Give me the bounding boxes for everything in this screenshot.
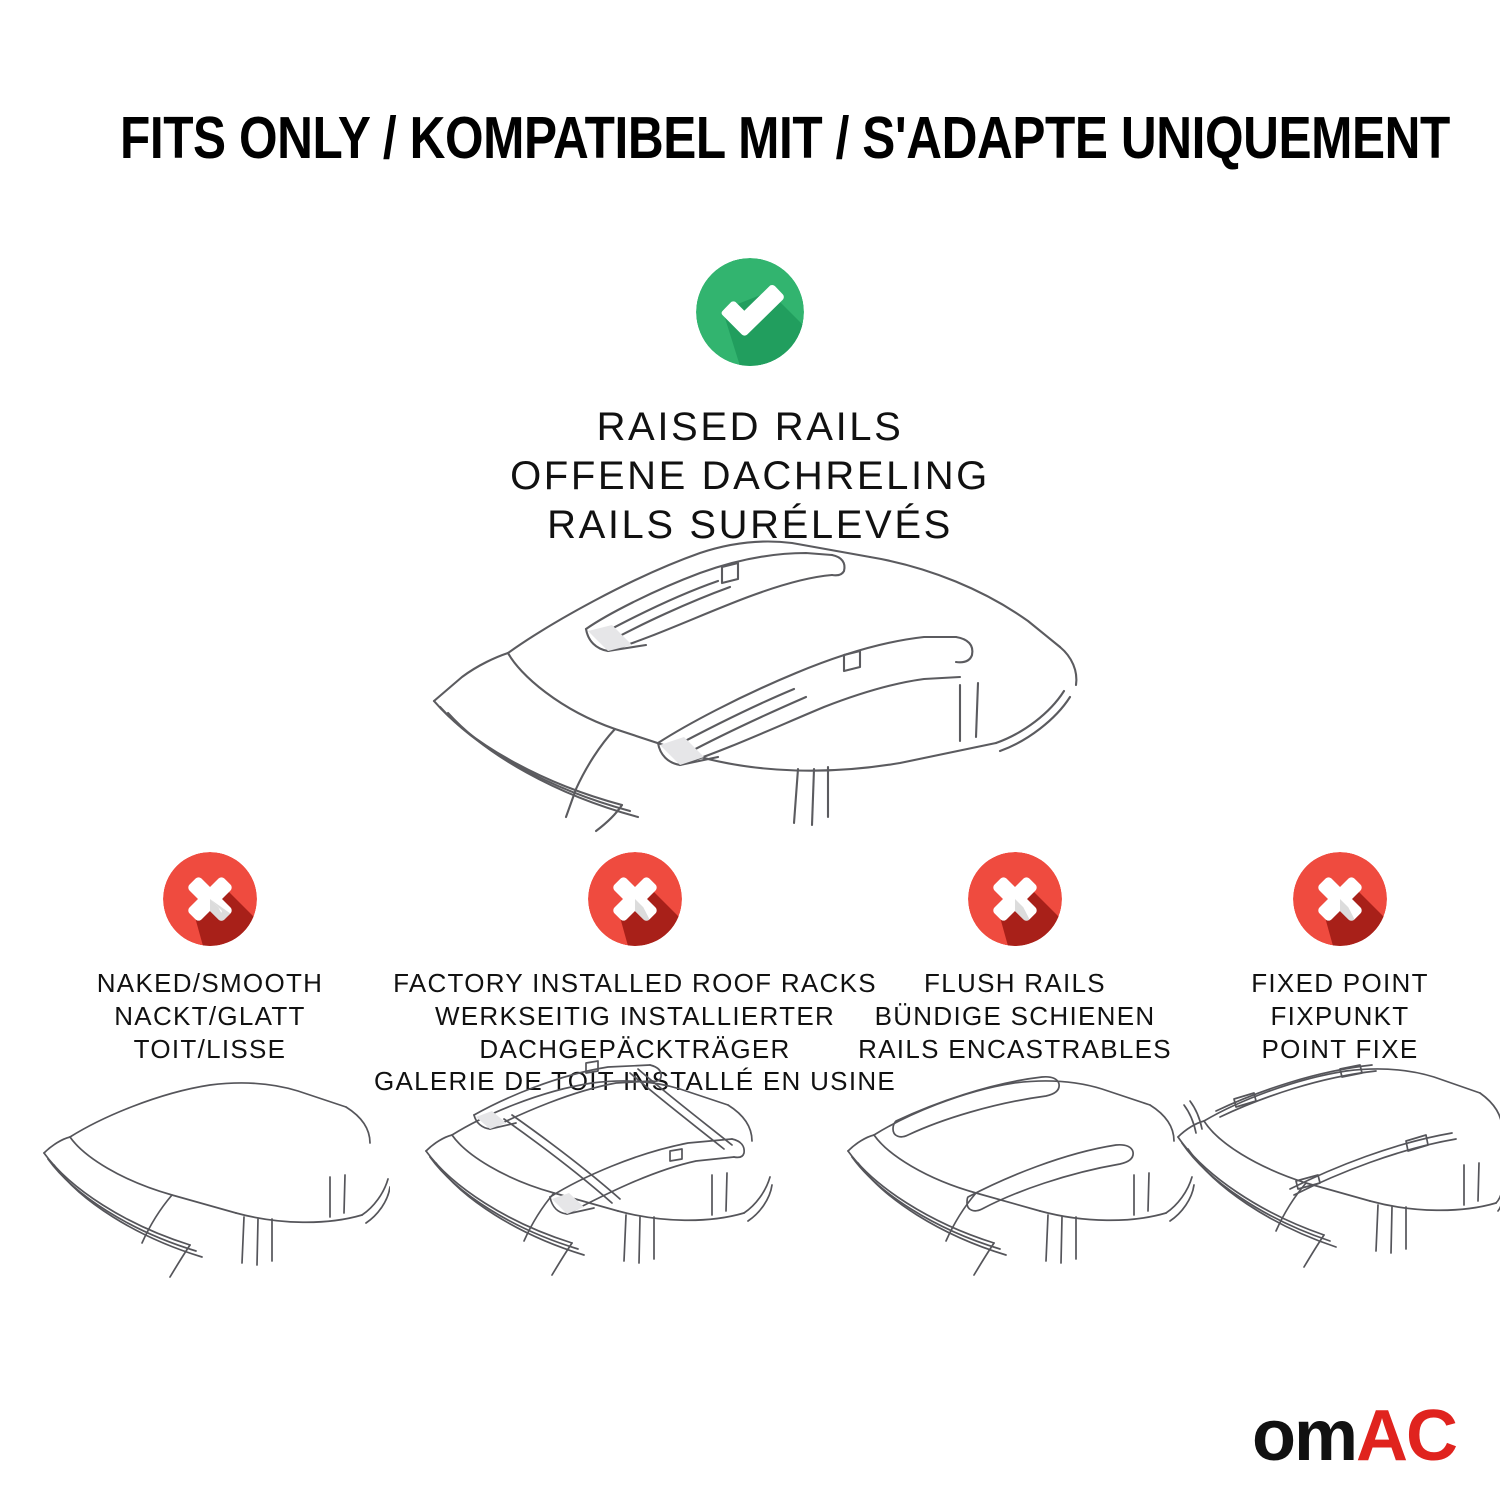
fitment-infographic: FITS ONLY / KOMPATIBEL MIT / S'ADAPTE UN… xyxy=(0,0,1500,1500)
check-circle-icon xyxy=(696,258,804,366)
car-roof-raised-rails-drawing xyxy=(400,505,1100,835)
incompatible-labels: FLUSH RAILS BÜNDIGE SCHIENEN RAILS ENCAS… xyxy=(858,967,1172,1065)
incompatible-label-en: FIXED POINT xyxy=(1251,967,1429,1000)
x-circle-icon xyxy=(968,852,1062,946)
incompatible-label-en: FACTORY INSTALLED ROOF RACKS xyxy=(374,967,896,1000)
x-circle-icon xyxy=(1293,852,1387,946)
car-roof-naked-smooth-drawing xyxy=(40,1065,390,1295)
incompatible-label-en: NAKED/SMOOTH xyxy=(97,967,324,1000)
car-roof-fixed-point-drawing xyxy=(1168,1059,1500,1294)
page-title: FITS ONLY / KOMPATIBEL MIT / S'ADAPTE UN… xyxy=(120,104,1380,172)
incompatible-label-de-1: WERKSEITIG INSTALLIERTER xyxy=(374,1000,896,1033)
incompatible-label-de: NACKT/GLATT xyxy=(97,1000,324,1033)
incompatible-labels: NAKED/SMOOTH NACKT/GLATT TOIT/LISSE xyxy=(97,967,324,1065)
x-circle-icon xyxy=(163,852,257,946)
x-circle-icon xyxy=(588,852,682,946)
logo-text-dark: om xyxy=(1252,1400,1356,1472)
incompatible-labels: FIXED POINT FIXPUNKT POINT FIXE xyxy=(1251,967,1429,1065)
incompatible-label-en: FLUSH RAILS xyxy=(858,967,1172,1000)
logo-text-accent: AC xyxy=(1356,1400,1456,1472)
incompatible-label-de: BÜNDIGE SCHIENEN xyxy=(858,1000,1172,1033)
compatible-label-en: RAISED RAILS xyxy=(0,403,1500,452)
omac-logo: omAC xyxy=(1252,1400,1456,1472)
roof-illustration-row xyxy=(0,1055,1500,1295)
compatible-label-de: OFFENE DACHRELING xyxy=(0,452,1500,501)
car-roof-factory-racks-drawing xyxy=(412,1057,782,1297)
car-roof-flush-rails-drawing xyxy=(838,1061,1208,1296)
incompatible-label-de: FIXPUNKT xyxy=(1251,1000,1429,1033)
